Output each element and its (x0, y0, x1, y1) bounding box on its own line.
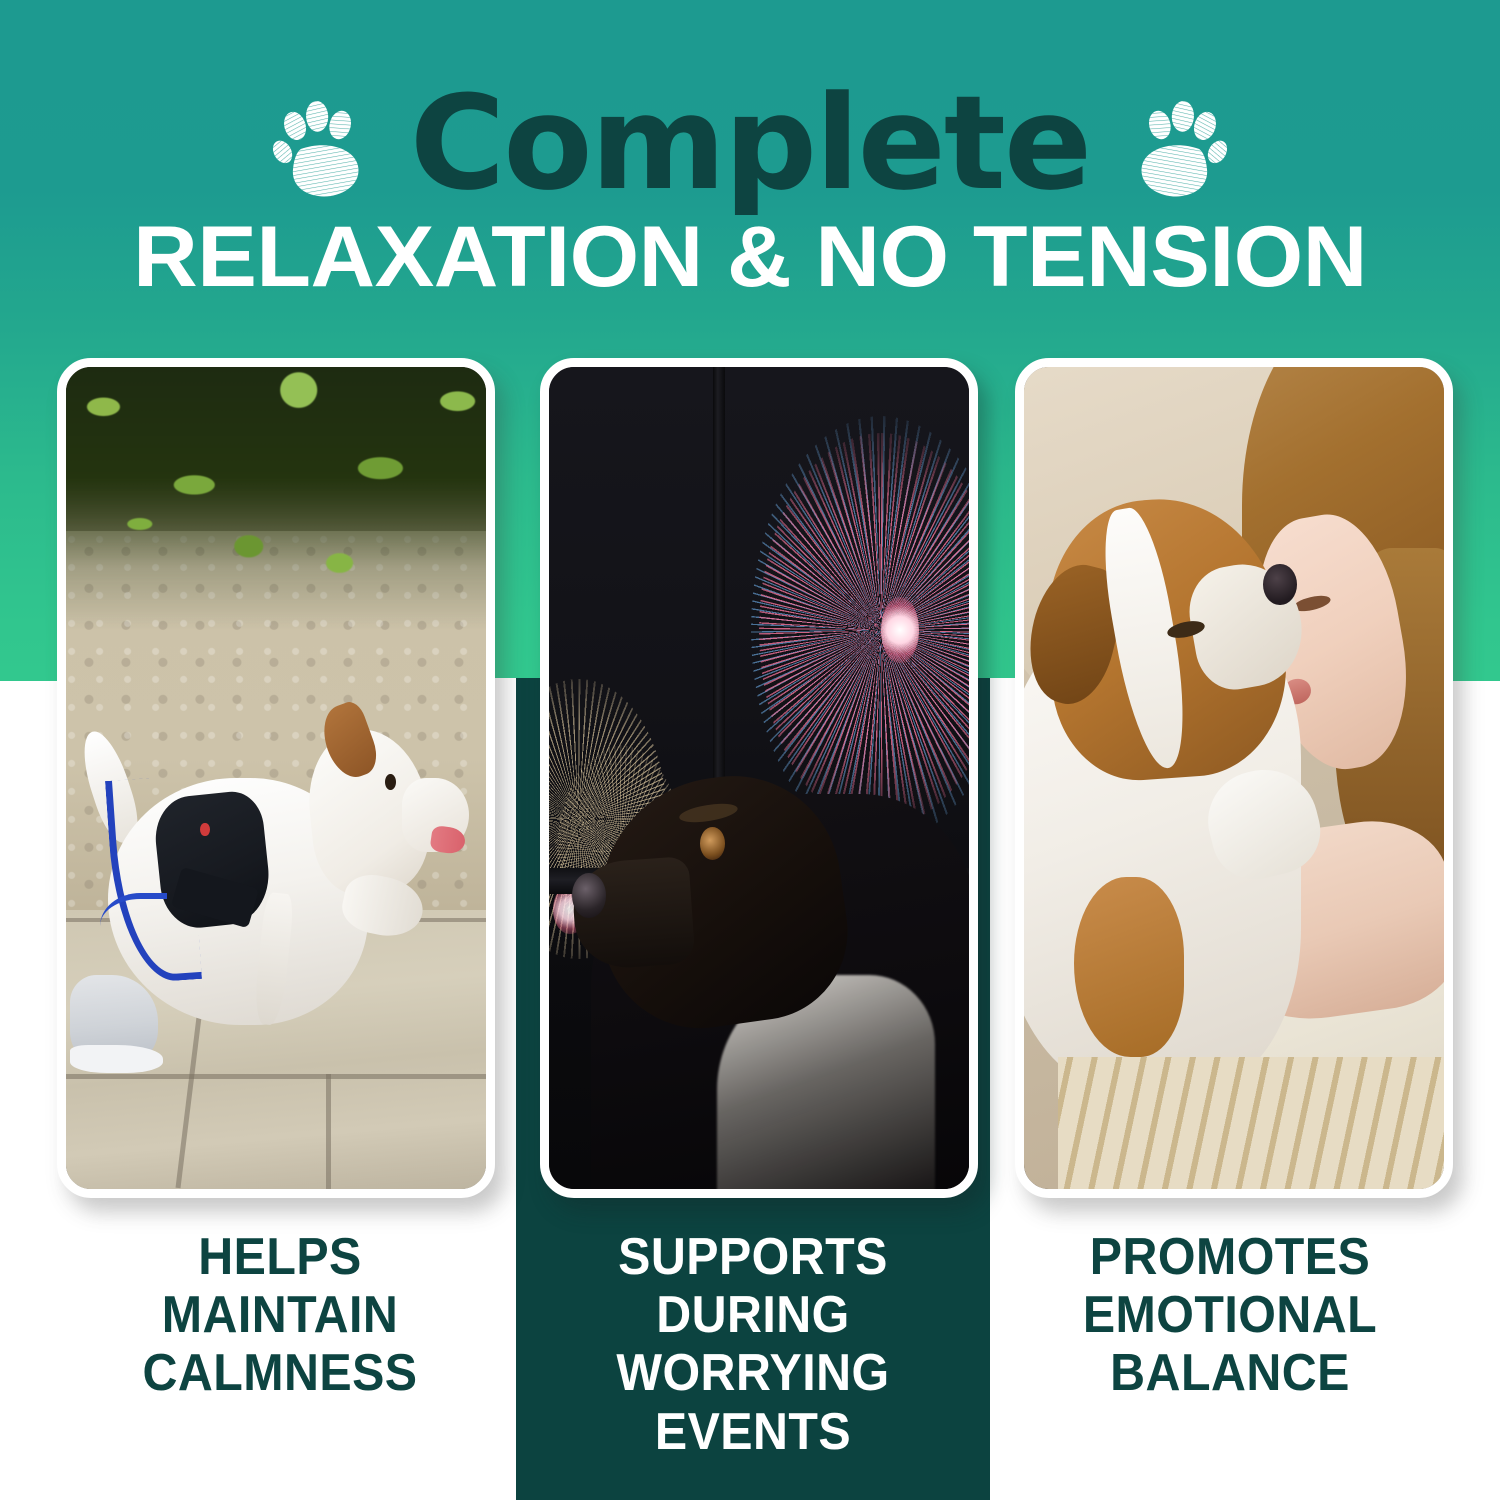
panel-3-caption: PROMOTES EMOTIONAL BALANCE (1025, 1228, 1434, 1403)
caption-line: SUPPORTS (548, 1228, 957, 1286)
caption-line: DURING (548, 1286, 957, 1344)
caption-line: WORRYING (548, 1344, 957, 1402)
promo-poster: Complete (0, 0, 1500, 1500)
panel-2-caption: SUPPORTS DURING WORRYING EVENTS (548, 1228, 957, 1461)
panel-1-caption: HELPS MAINTAIN CALMNESS (75, 1228, 484, 1403)
caption-line: EMOTIONAL (1025, 1286, 1434, 1344)
panel-3-image-card (1015, 358, 1453, 1198)
caption-line: BALANCE (1025, 1344, 1434, 1402)
caption-line: PROMOTES (1025, 1228, 1434, 1286)
dog-watching-fireworks-photo (549, 367, 969, 1189)
caption-row: HELPS MAINTAIN CALMNESS SUPPORTS DURING … (0, 1228, 1500, 1500)
caption-line: HELPS (75, 1228, 484, 1286)
caption-line: EVENTS (548, 1403, 957, 1461)
caption-line: CALMNESS (75, 1344, 484, 1402)
panel-2-image-card (540, 358, 978, 1198)
panel-1-image-card (57, 358, 495, 1198)
caption-line: MAINTAIN (75, 1286, 484, 1344)
child-hugging-dog-photo (1024, 367, 1444, 1189)
dog-on-leash-photo (66, 367, 486, 1189)
